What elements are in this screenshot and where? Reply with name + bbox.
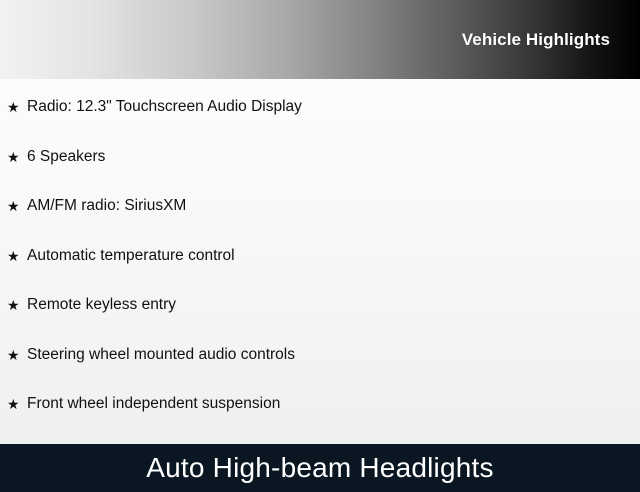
star-icon: ★ [7, 196, 27, 216]
list-item: ★ AM/FM radio: SiriusXM [0, 196, 640, 246]
star-icon: ★ [7, 394, 27, 414]
list-item: ★ 6 Speakers [0, 147, 640, 197]
star-icon: ★ [7, 97, 27, 117]
footer-feature-label: Auto High-beam Headlights [146, 452, 493, 484]
star-icon: ★ [7, 246, 27, 266]
list-item-label: Steering wheel mounted audio controls [27, 345, 640, 365]
list-item-label: Front wheel independent suspension [27, 394, 640, 414]
list-item-label: 6 Speakers [27, 147, 640, 167]
footer-banner: Auto High-beam Headlights [0, 444, 640, 492]
list-item: ★ Radio: 12.3" Touchscreen Audio Display [0, 97, 640, 147]
star-icon: ★ [7, 345, 27, 365]
star-icon: ★ [7, 147, 27, 167]
star-icon: ★ [7, 295, 27, 315]
list-item-label: Radio: 12.3" Touchscreen Audio Display [27, 97, 640, 117]
list-item: ★ Automatic temperature control [0, 246, 640, 296]
page-title: Vehicle Highlights [462, 30, 640, 50]
vehicle-highlights-panel: Vehicle Highlights ★ Radio: 12.3" Touchs… [0, 0, 640, 480]
highlights-list: ★ Radio: 12.3" Touchscreen Audio Display… [0, 79, 640, 444]
list-item-label: AM/FM radio: SiriusXM [27, 196, 640, 216]
list-item: ★ Front wheel independent suspension [0, 394, 640, 444]
list-item-label: Remote keyless entry [27, 295, 640, 315]
list-item: ★ Remote keyless entry [0, 295, 640, 345]
list-item: ★ Steering wheel mounted audio controls [0, 345, 640, 395]
header-banner: Vehicle Highlights [0, 0, 640, 79]
list-item-label: Automatic temperature control [27, 246, 640, 266]
